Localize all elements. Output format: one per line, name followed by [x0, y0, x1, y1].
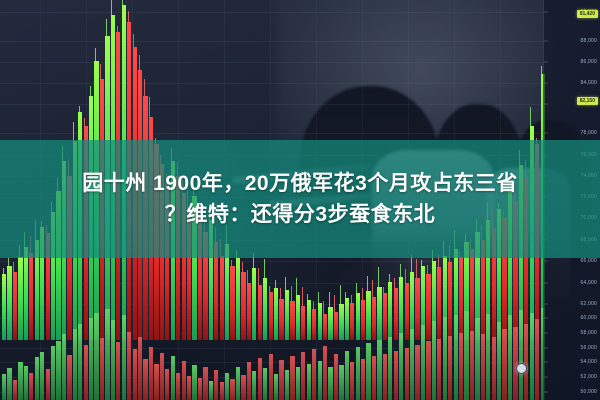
axis-tick-line: [544, 392, 548, 393]
axis-tick-line: [544, 261, 548, 262]
volume-bar: [377, 340, 381, 400]
volume-bar: [328, 367, 332, 400]
volume-bar: [40, 352, 44, 400]
volume-bar: [372, 356, 376, 400]
axis-tick-label: 54,000: [581, 359, 598, 365]
axis-tick-line: [544, 104, 548, 105]
volume-bar: [165, 369, 169, 400]
volume-bar: [225, 373, 229, 400]
volume-bar: [492, 337, 496, 400]
volume-bar: [116, 342, 120, 400]
volume-bar: [459, 333, 463, 400]
axis-tick-label: 64,000: [581, 280, 598, 286]
axis-tick-line: [544, 283, 548, 284]
axis-tick-line: [544, 318, 548, 319]
axis-tick-label: 78,000: [581, 130, 598, 136]
volume-bar: [46, 369, 50, 400]
volume-bar: [122, 315, 126, 400]
volume-bar: [508, 315, 512, 400]
volume-bar: [78, 324, 82, 400]
axis-tick-line: [544, 12, 548, 13]
volume-bar: [67, 355, 71, 400]
volume-bar: [312, 349, 316, 400]
volume-bar: [454, 315, 458, 400]
volume-bar: [426, 341, 430, 400]
axis-tick-label: 86,000: [581, 59, 598, 65]
volume-bar: [252, 371, 256, 400]
volume-bar: [524, 324, 528, 400]
axis-tick-line: [544, 362, 548, 363]
volume-bar: [437, 339, 441, 400]
volume-bar: [94, 313, 98, 400]
axis-tick-label: 88,000: [581, 38, 598, 44]
volume-bar: [432, 321, 436, 400]
volume-bar: [100, 338, 104, 400]
volume-bar: [464, 311, 468, 400]
volume-bar: [356, 347, 360, 400]
volume-bar: [230, 379, 234, 400]
volume-bar: [486, 314, 490, 400]
volume-bar: [192, 365, 196, 400]
volume-bar: [84, 345, 88, 400]
volume-bar: [443, 317, 447, 400]
volume-bar: [160, 353, 164, 400]
axis-tick-line: [544, 62, 548, 63]
volume-bar: [2, 374, 6, 400]
axis-tick-line: [544, 333, 548, 334]
axis-tick-line: [544, 304, 548, 305]
volume-bar: [176, 373, 180, 400]
volume-bar: [111, 320, 115, 400]
volume-bar: [29, 373, 33, 400]
volume-bar: [127, 332, 131, 400]
volume-bar: [7, 368, 11, 400]
volume-bar: [182, 361, 186, 400]
volume-bar: [497, 322, 501, 400]
volume-bar: [475, 318, 479, 400]
volume-bar: [285, 370, 289, 400]
volume-bar: [187, 376, 191, 400]
volume-bar: [318, 361, 322, 400]
axis-tick-label: 60,000: [581, 315, 598, 321]
volume-bar: [35, 357, 39, 400]
volume-bar: [530, 313, 534, 400]
volume-bar: [56, 341, 60, 400]
volume-bar: [448, 336, 452, 400]
volume-bar: [13, 380, 17, 400]
volume-bar: [89, 318, 93, 400]
volume-bar: [247, 362, 251, 400]
screenshot-canvas: 92,00088,00086,00084,00082,00078,00076,0…: [0, 0, 600, 400]
volume-bar: [470, 331, 474, 400]
axis-tick-label: 52,000: [581, 374, 598, 380]
volume-bar: [51, 346, 55, 400]
volume-bar: [415, 345, 419, 400]
volume-bar: [105, 309, 109, 400]
axis-tick-line: [544, 348, 548, 349]
volume-bar: [209, 381, 213, 400]
headline-band: [0, 140, 600, 258]
volume-bar: [274, 374, 278, 400]
volume-bar: [301, 352, 305, 400]
volume-bar: [198, 378, 202, 400]
volume-bar: [339, 365, 343, 400]
volume-bar: [366, 343, 370, 400]
volume-bar: [323, 346, 327, 400]
axis-tick-label: 56,000: [581, 345, 598, 351]
volume-bar: [154, 364, 158, 400]
volume-bar: [24, 366, 28, 400]
volume-bar: [214, 370, 218, 400]
volume-bar: [388, 337, 392, 400]
volume-bar: [410, 329, 414, 400]
axis-tick-line: [544, 377, 548, 378]
volume-bar: [421, 325, 425, 400]
axis-tick-label: 58,000: [581, 330, 598, 336]
axis-tick-label: 84,000: [581, 80, 598, 86]
volume-bar: [307, 364, 311, 400]
volume-series: [0, 304, 544, 400]
axis-tick-line: [544, 133, 548, 134]
volume-bar: [171, 356, 175, 400]
axis-tick-label: 62,000: [581, 301, 598, 307]
volume-bar: [269, 354, 273, 400]
axis-tick-line: [544, 41, 548, 42]
chart-point-marker[interactable]: [516, 363, 527, 374]
volume-bar: [149, 347, 153, 400]
volume-bar: [18, 362, 22, 400]
volume-bar: [220, 382, 224, 400]
volume-bar: [290, 356, 294, 400]
volume-bar: [241, 375, 245, 400]
volume-bar: [73, 329, 77, 400]
volume-bar: [203, 367, 207, 400]
volume-bar: [361, 359, 365, 400]
volume-bar: [62, 334, 66, 400]
volume-bar: [481, 334, 485, 400]
volume-bar: [502, 329, 506, 400]
volume-bar: [263, 368, 267, 400]
volume-bar: [350, 362, 354, 400]
volume-bar: [258, 358, 262, 400]
volume-bar: [236, 367, 240, 400]
current-price-tag[interactable]: 82,150: [577, 97, 598, 105]
axis-tick-label: 50,000: [581, 389, 598, 395]
volume-bar: [519, 310, 523, 400]
volume-bar: [405, 348, 409, 400]
volume-bar: [394, 351, 398, 400]
axis-tick-label: 66,000: [581, 258, 598, 264]
volume-bar: [334, 354, 338, 400]
volume-bar: [345, 351, 349, 400]
current-price-tag[interactable]: 91,420: [577, 10, 598, 18]
volume-bar: [383, 354, 387, 400]
volume-bar: [143, 359, 147, 400]
volume-bar: [133, 349, 137, 400]
volume-bar: [138, 337, 142, 400]
volume-bar: [399, 333, 403, 400]
volume-bar: [535, 319, 539, 400]
axis-tick-line: [544, 83, 548, 84]
volume-bar: [296, 367, 300, 400]
volume-bar: [279, 360, 283, 400]
